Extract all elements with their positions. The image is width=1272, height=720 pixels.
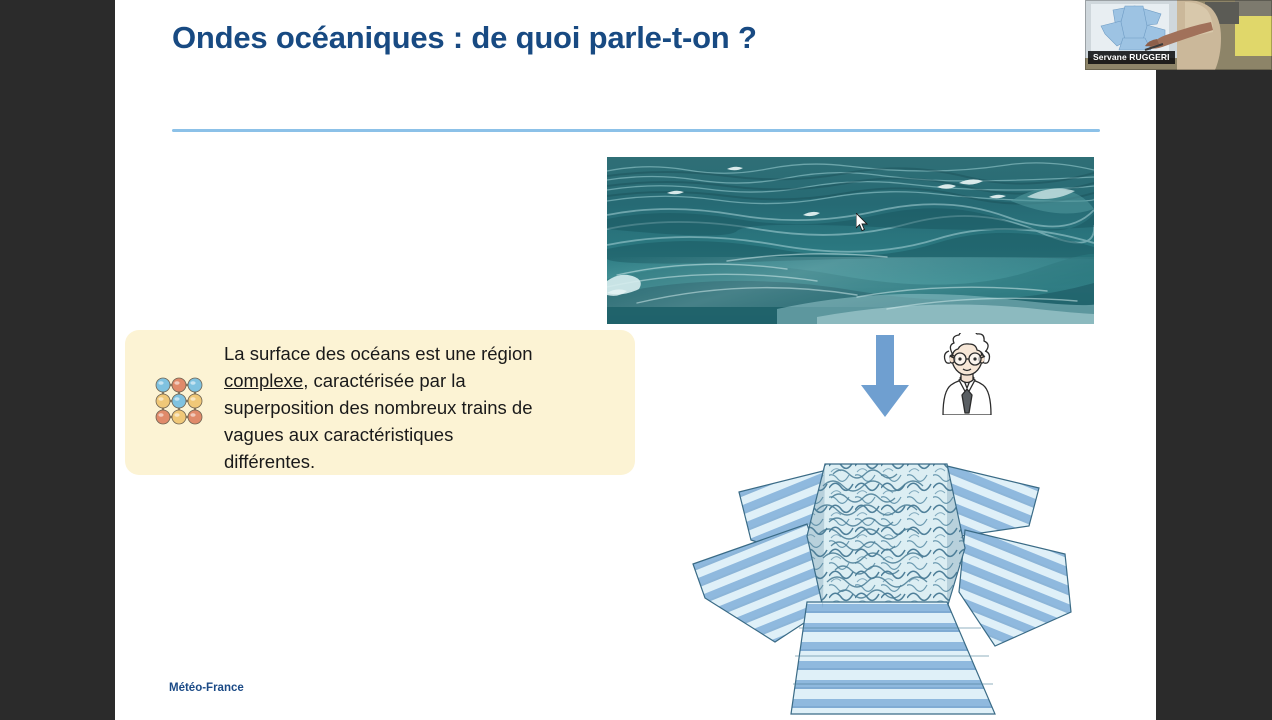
callout-line-3: superposition des nombreux trains de — [224, 397, 533, 418]
callout-text: La surface des océans est une région com… — [224, 340, 624, 475]
ocean-surface-photo — [607, 157, 1094, 324]
scientist-clipart-icon — [931, 333, 1003, 415]
title-divider — [172, 129, 1100, 132]
presentation-slide: Ondes océaniques : de quoi parle-t-on ? — [115, 0, 1156, 720]
screen-root: Ondes océaniques : de quoi parle-t-on ? — [0, 0, 1272, 720]
wave-superposition-diagram — [647, 452, 1094, 720]
molecule-grid-icon — [152, 374, 206, 428]
callout-line-1: La surface des océans est une région — [224, 343, 533, 364]
callout-line-2-rest: , caractérisée par la — [303, 370, 465, 391]
webcam-participant-name: Servane RUGGERI — [1088, 51, 1175, 64]
slide-footer-brand: Météo-France — [169, 682, 244, 694]
callout-keyword-complexe: complexe — [224, 370, 303, 391]
webcam-overlay[interactable]: Servane RUGGERI — [1085, 0, 1272, 70]
callout-line-5: différentes. — [224, 451, 315, 472]
callout-line-4: vagues aux caractéristiques — [224, 424, 453, 445]
info-callout: La surface des océans est une région com… — [125, 330, 635, 475]
page-title: Ondes océaniques : de quoi parle-t-on ? — [172, 20, 757, 56]
down-arrow-icon — [859, 335, 911, 418]
